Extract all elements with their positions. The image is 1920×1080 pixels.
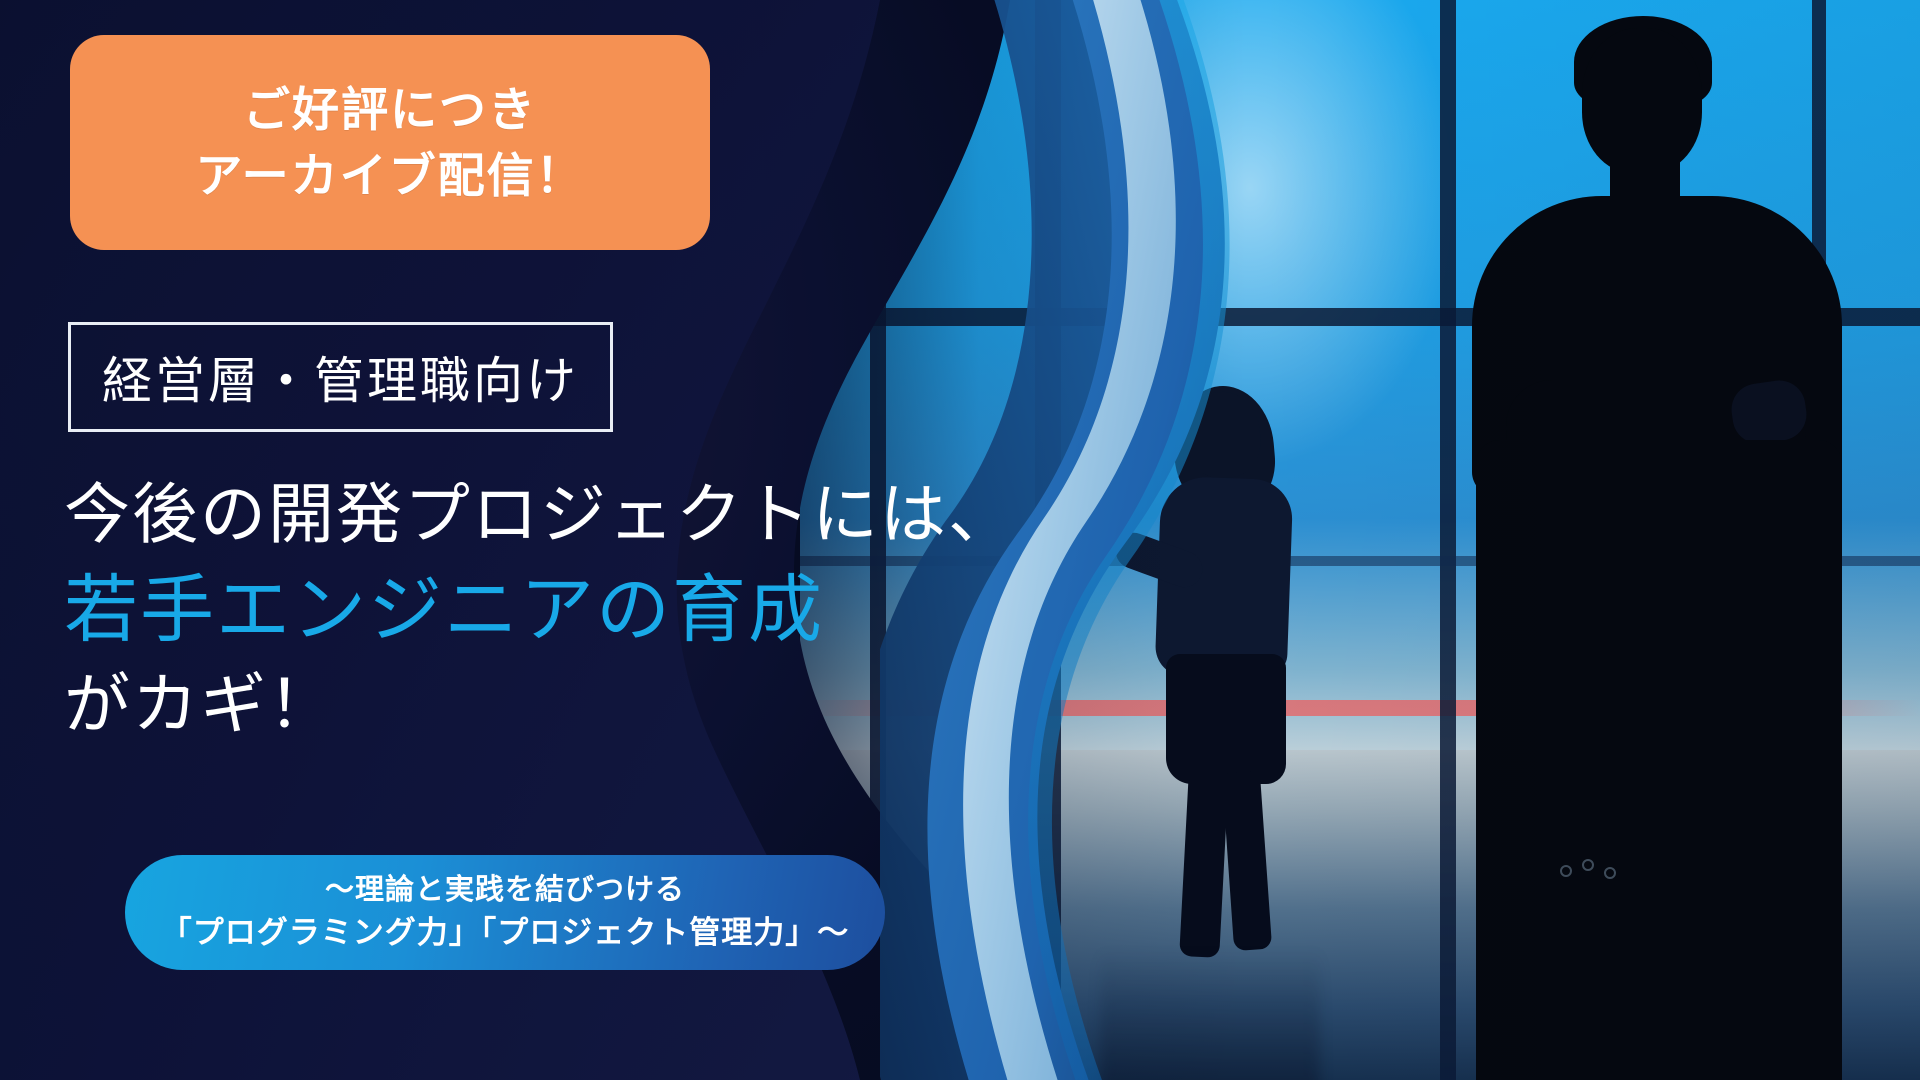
subtitle-pill-line2: 「プログラミング力」「プロジェクト管理力」〜 <box>161 913 850 953</box>
headline: 今後の開発プロジェクトには、 若手エンジニアの育成 がカギ！ <box>64 470 964 750</box>
archive-badge-line1: ご好評につき <box>243 82 537 137</box>
promo-banner: ご好評につき アーカイブ配信！ 経営層・管理職向け 今後の開発プロジェクトには、… <box>0 0 1920 1080</box>
headline-line-3: がカギ！ <box>64 660 964 750</box>
subtitle-pill: 〜理論と実践を結びつける 「プログラミング力」「プロジェクト管理力」〜 <box>125 855 885 970</box>
subtitle-pill-line1: 〜理論と実践を結びつける <box>325 872 685 910</box>
content-column: ご好評につき アーカイブ配信！ 経営層・管理職向け 今後の開発プロジェクトには、… <box>0 0 960 1080</box>
decorative-dot <box>1582 859 1594 871</box>
headline-line-2: 若手エンジニアの育成 <box>64 560 964 661</box>
headline-line-1: 今後の開発プロジェクトには、 <box>64 470 964 560</box>
decorative-dots <box>1560 859 1620 885</box>
archive-badge-line2: アーカイブ配信！ <box>195 148 584 203</box>
archive-badge: ご好評につき アーカイブ配信！ <box>70 35 710 250</box>
audience-category-box: 経営層・管理職向け <box>68 322 613 432</box>
audience-category-label: 経営層・管理職向け <box>102 341 579 413</box>
decorative-dot <box>1560 865 1572 877</box>
decorative-dot <box>1604 867 1616 879</box>
